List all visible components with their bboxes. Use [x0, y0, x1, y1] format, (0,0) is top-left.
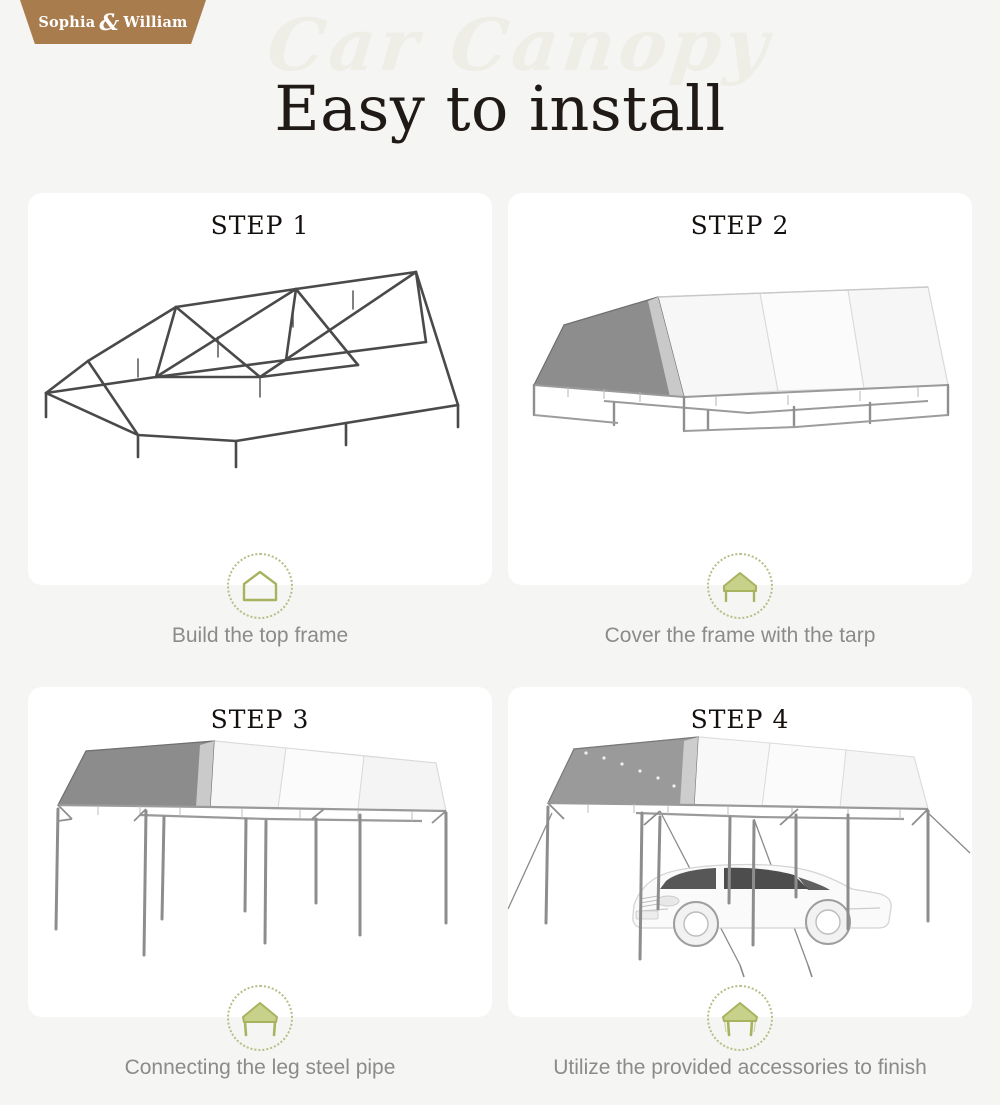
step-art-3 [28, 733, 492, 1009]
ampersand-glyph: & [99, 12, 119, 34]
step-caption-1: Build the top frame [172, 624, 348, 648]
steps-row-2: STEP 3 [28, 687, 972, 1105]
brand-name: Sophia & William [38, 11, 187, 33]
step-card-4: STEP 4 [508, 687, 972, 1017]
step-title-2: STEP 2 [508, 211, 972, 240]
step-caption-4: Utilize the provided accessories to fini… [553, 1056, 927, 1080]
step-art-2 [508, 245, 972, 575]
step-card-3: STEP 3 [28, 687, 492, 1017]
step-caption-3: Connecting the leg steel pipe [125, 1056, 396, 1080]
brand-badge: Sophia & William [20, 0, 206, 44]
brand-name-right: William [123, 14, 187, 31]
steps-grid: STEP 1 [28, 193, 972, 1105]
canopy-frame-icon [227, 553, 293, 619]
step-cell-2: STEP 2 [508, 193, 972, 673]
step-footer-2: Cover the frame with the tarp [508, 585, 972, 673]
step-cell-3: STEP 3 [28, 687, 492, 1105]
step-footer-4: Utilize the provided accessories to fini… [508, 1017, 972, 1105]
step-card-1: STEP 1 [28, 193, 492, 585]
step-art-1 [28, 245, 492, 575]
steps-row-1: STEP 1 [28, 193, 972, 673]
canopy-anchored-icon [707, 985, 773, 1051]
car-illustration [633, 865, 891, 946]
step-card-2: STEP 2 [508, 193, 972, 585]
canopy-tarp-icon [707, 553, 773, 619]
brand-name-left: Sophia [38, 14, 95, 31]
step-art-4 [508, 733, 972, 1009]
step-footer-3: Connecting the leg steel pipe [28, 1017, 492, 1105]
infographic-page: Sophia & William Car Canopy Easy to inst… [0, 0, 1000, 1000]
step-title-4: STEP 4 [508, 705, 972, 734]
canopy-legs-icon [227, 985, 293, 1051]
step-footer-1: Build the top frame [28, 585, 492, 673]
step-title-3: STEP 3 [28, 705, 492, 734]
step-cell-4: STEP 4 [508, 687, 972, 1105]
step-cell-1: STEP 1 [28, 193, 492, 673]
page-title: Easy to install [0, 72, 1000, 145]
step-caption-2: Cover the frame with the tarp [605, 624, 876, 648]
step-title-1: STEP 1 [28, 211, 492, 240]
